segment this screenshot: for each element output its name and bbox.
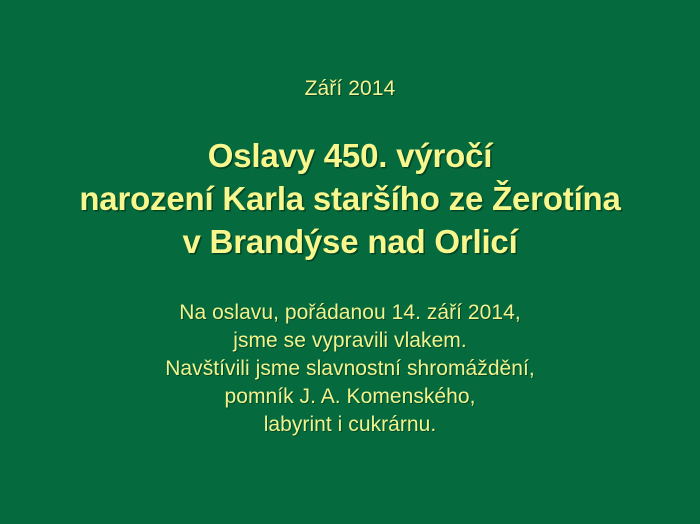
slide-title: Oslavy 450. výročí narození Karla starší…	[0, 134, 700, 263]
slide-date-heading: Září 2014	[0, 76, 700, 102]
slide-body-text: Na oslavu, pořádanou 14. září 2014, jsme…	[0, 299, 700, 439]
slide-body-line-3: Navštívili jsme slavnostní shromáždění,	[0, 355, 700, 383]
slide-body-line-1: Na oslavu, pořádanou 14. září 2014,	[0, 299, 700, 327]
slide-title-line-3: v Brandýse nad Orlicí	[0, 220, 700, 263]
slide-body-line-4: pomník J. A. Komenského,	[0, 383, 700, 411]
slide-title-line-1: Oslavy 450. výročí	[0, 134, 700, 177]
presentation-slide: Září 2014 Oslavy 450. výročí narození Ka…	[0, 0, 700, 524]
slide-body-line-5: labyrint i cukrárnu.	[0, 411, 700, 439]
slide-title-line-2: narození Karla staršího ze Žerotína	[0, 177, 700, 220]
slide-body-line-2: jsme se vypravili vlakem.	[0, 327, 700, 355]
